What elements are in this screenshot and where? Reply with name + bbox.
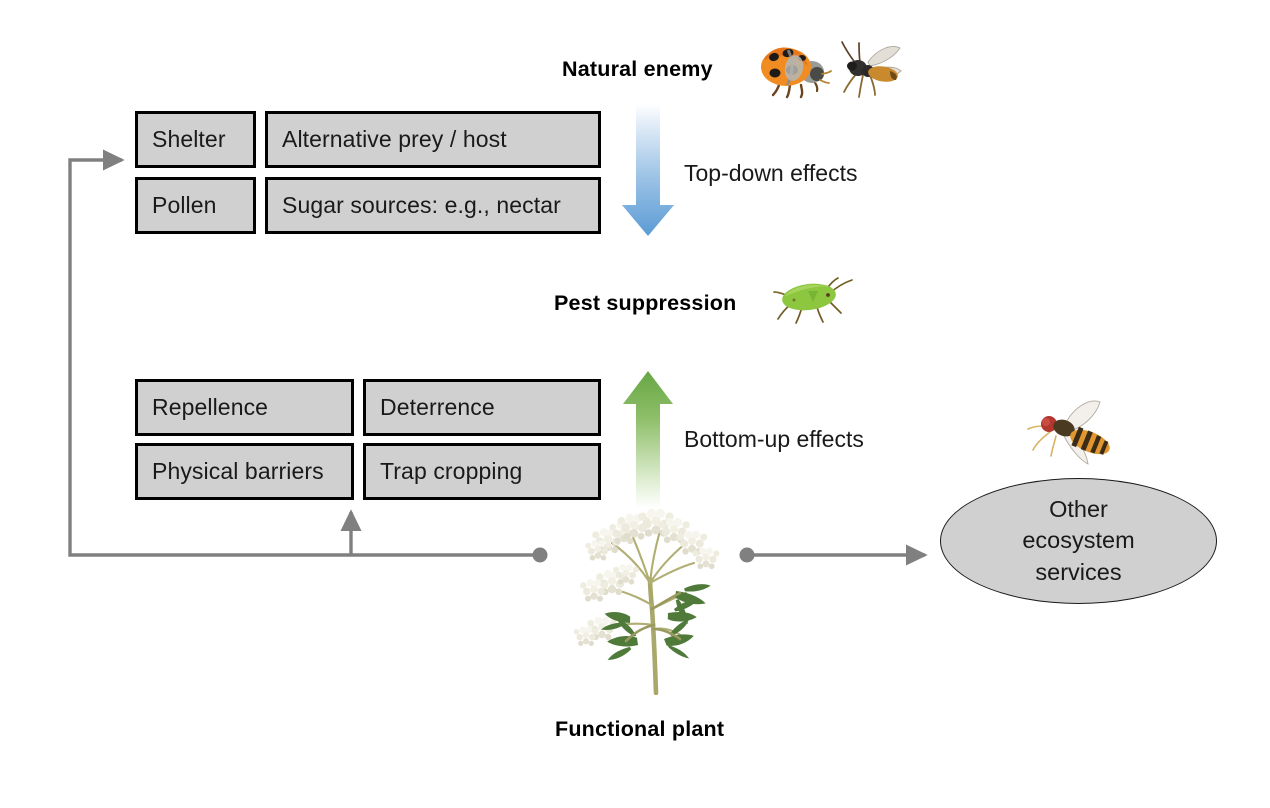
ellipse-other-ecosystem-services[interactable]: Other ecosystem services: [940, 478, 1217, 604]
heading-functional-plant: Functional plant: [555, 717, 724, 742]
hoverfly-icon: [1024, 398, 1122, 472]
box-pollen[interactable]: Pollen: [135, 177, 256, 234]
aphid-icon: [772, 277, 854, 325]
top-down-arrow: [622, 104, 674, 236]
plant-to-ecosystem-services-connector: [740, 548, 926, 563]
box-trap-cropping[interactable]: Trap cropping: [363, 443, 601, 500]
ellipse-line-2: ecosystem: [1022, 525, 1134, 556]
bottom-up-arrow: [623, 371, 673, 508]
label-top-down-effects: Top-down effects: [684, 160, 857, 187]
parasitoid-wasp-icon: [830, 40, 904, 102]
box-sugar-sources[interactable]: Sugar sources: e.g., nectar: [265, 177, 601, 234]
box-deterrence[interactable]: Deterrence: [363, 379, 601, 436]
diagram-canvas: Natural enemy Pest suppression Functiona…: [0, 0, 1270, 808]
label-bottom-up-effects: Bottom-up effects: [684, 426, 864, 453]
umbellifer-plant-icon: [568, 505, 738, 695]
ladybird-beetle-icon: [760, 42, 832, 100]
box-physical-barriers[interactable]: Physical barriers: [135, 443, 354, 500]
ellipse-line-1: Other: [1022, 494, 1134, 525]
box-shelter[interactable]: Shelter: [135, 111, 256, 168]
ellipse-line-3: services: [1022, 557, 1134, 588]
box-alternative-prey-host[interactable]: Alternative prey / host: [265, 111, 601, 168]
ellipse-text: Other ecosystem services: [1022, 494, 1134, 588]
heading-natural-enemy: Natural enemy: [562, 57, 713, 82]
box-repellence[interactable]: Repellence: [135, 379, 354, 436]
heading-pest-suppression: Pest suppression: [554, 291, 736, 316]
